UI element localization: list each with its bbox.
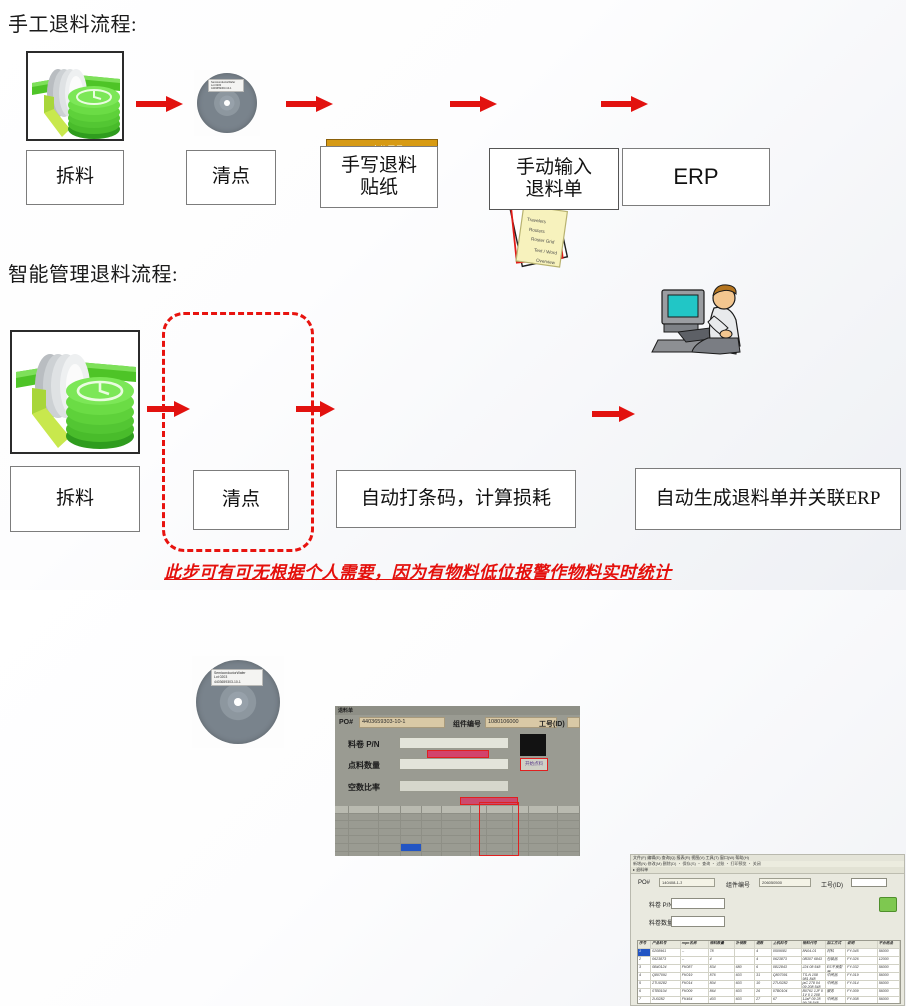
wafer-reel-photo-2: SemiconductorWaferLot 02034403659303-10-…	[192, 656, 284, 748]
counting-label-part: 组件编号	[453, 719, 481, 729]
erp-save-icon[interactable]	[879, 897, 897, 912]
person-at-computer-icon	[648, 276, 758, 360]
erp-label-empid: 工号(ID)	[821, 880, 843, 889]
counting-start-button[interactable]: 开始点料	[525, 761, 543, 767]
erp-label-pn: 料卷 P/N	[649, 900, 673, 909]
manual-flow-heading: 手工退料流程:	[8, 8, 137, 37]
step-label-erp-auto: 自动生成退料单并关联ERP	[635, 468, 901, 530]
erp-label-qty: 料卷数量	[649, 918, 673, 927]
footnote-text: 此步可有可无根据个人需要，因为有物料低位报警作物料实时统计	[164, 558, 672, 583]
counting-ratio-highlight	[479, 802, 519, 856]
tape-reel-green-icon	[28, 53, 122, 139]
arrow-right-7	[592, 405, 636, 421]
wafer-label: SemiconductorWaferLot 02034403659303-10-…	[208, 79, 244, 92]
arrow-right-2	[286, 95, 334, 111]
slide-canvas: 手工退料流程:	[0, 0, 906, 590]
wafer-reel-photo: SemiconductorWaferLot 02034403659303-10-…	[194, 70, 260, 136]
tape-reel-green-icon-2	[12, 332, 138, 452]
erp-value-po: 140408-1-3	[662, 880, 682, 885]
counting-value-po: 4403659303-10-1	[362, 719, 405, 725]
step-label-erp-1: ERP	[622, 148, 770, 206]
erp-return-form-screenshot: 文件(F) 编辑(E) 查询(Q) 报表(R) 视图(V) 工具(T) 窗口(W…	[630, 854, 905, 1006]
step-label-chailiao-2: 拆料	[10, 466, 140, 532]
step-label-qingdian-1: 清点	[186, 150, 276, 205]
arrow-right-3	[450, 95, 498, 111]
erp-label-po: PO#	[638, 880, 650, 886]
step-label-qingdian-2: 清点	[193, 470, 289, 530]
counting-label-pn: 料卷 P/N	[348, 739, 380, 750]
arrow-right-4	[601, 95, 649, 111]
arrow-right-6	[296, 400, 336, 416]
arrow-right-5	[147, 400, 191, 416]
arrow-right-1	[136, 95, 184, 111]
tape-reel-green-icon-frame	[26, 51, 124, 141]
step-label-shouxie-1: 手写退料 贴纸	[320, 146, 438, 208]
counting-label-qty: 点料数量	[348, 760, 380, 771]
counting-label-po: PO#	[339, 719, 353, 726]
step-label-shoudong-1: 手动输入 退料单	[489, 148, 619, 210]
step-label-chailiao-1: 拆料	[26, 150, 124, 205]
counting-label-ratio: 空数比率	[348, 782, 380, 793]
erp-label-part: 组件编号	[726, 880, 750, 889]
step-label-barcode: 自动打条码，计算损耗	[336, 470, 576, 528]
counting-title: 退料单	[338, 707, 353, 714]
smart-flow-heading: 智能管理退料流程:	[8, 258, 178, 287]
counting-app-screenshot: 退料单 PO# 4403659303-10-1 组件编号 1080106000 …	[335, 706, 580, 856]
counting-barcode-preview	[520, 734, 546, 756]
counting-value-part: 1080106000	[488, 719, 519, 725]
counting-label-empid: 工号(ID)	[539, 719, 565, 729]
wafer-label-2: SemiconductorWaferLot 02034403659303-10-…	[211, 669, 263, 686]
erp-value-part: 206050500	[762, 880, 782, 885]
tape-reel-green-icon-frame-2	[10, 330, 140, 454]
